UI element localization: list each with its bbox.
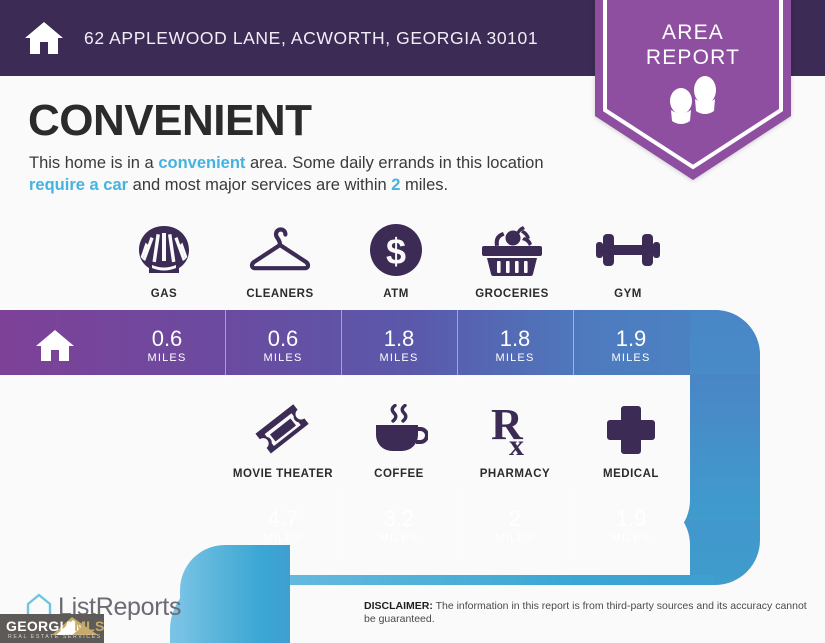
home-icon bbox=[24, 20, 64, 56]
ticket-icon bbox=[255, 402, 311, 458]
badge-text: AREA REPORT bbox=[595, 20, 791, 70]
dumbbell-icon bbox=[596, 222, 660, 278]
icon-label: GYM bbox=[614, 288, 642, 300]
georgia-mls-badge: GEORGIAMLS REAL ESTATE SERVICES bbox=[0, 614, 104, 643]
page-title: CONVENIENT bbox=[28, 96, 311, 146]
icon-cell-medical: MEDICAL bbox=[573, 402, 689, 480]
svg-text:x: x bbox=[509, 429, 524, 457]
icon-cell-cleaners: CLEANERS bbox=[222, 222, 338, 300]
icon-label: ATM bbox=[383, 288, 409, 300]
distance-unit: MILES bbox=[379, 532, 418, 544]
hanger-icon bbox=[249, 222, 311, 278]
shell-icon bbox=[137, 222, 191, 278]
area-report-page: 62 APPLEWOOD LANE, ACWORTH, GEORGIA 3010… bbox=[0, 0, 825, 643]
distance-bar-row-2: 4.7 MILES 3.2 MILES 2 MILES 1.9 MILES bbox=[225, 490, 689, 560]
icon-label: CLEANERS bbox=[246, 288, 313, 300]
distance-value: 1.9 bbox=[616, 507, 647, 530]
mls-tagline: REAL ESTATE SERVICES bbox=[8, 634, 102, 640]
subtitle-part-b: area. Some daily errands in this locatio… bbox=[245, 154, 543, 172]
icon-cell-pharmacy: R x PHARMACY bbox=[457, 402, 573, 480]
distance-unit: MILES bbox=[263, 532, 302, 544]
distance-unit: MILES bbox=[147, 352, 186, 364]
disclaimer-label: DISCLAIMER: bbox=[364, 600, 433, 612]
icon-row-2: MOVIE THEATER COFFEE R x bbox=[225, 402, 689, 480]
distance-cell-atm: 1.8 MILES bbox=[341, 310, 457, 380]
icon-label: PHARMACY bbox=[480, 468, 550, 480]
highlight-require-car: require a car bbox=[29, 176, 128, 194]
distance-unit: MILES bbox=[611, 532, 650, 544]
distance-cell-coffee: 3.2 MILES bbox=[341, 490, 457, 560]
distance-cell-gas: 0.6 MILES bbox=[109, 310, 225, 380]
page-subtitle: This home is in a convenient area. Some … bbox=[29, 152, 589, 196]
icon-cell-atm: $ ATM bbox=[338, 222, 454, 300]
distance-value: 4.7 bbox=[268, 507, 299, 530]
distance-cell-movie-theater: 4.7 MILES bbox=[225, 490, 341, 560]
icon-label: MEDICAL bbox=[603, 468, 659, 480]
icon-cell-gym: GYM bbox=[570, 222, 686, 300]
mls-georgia: GEORGIA bbox=[6, 618, 74, 634]
area-report-badge: AREA REPORT bbox=[595, 0, 791, 180]
icon-label: COFFEE bbox=[374, 468, 424, 480]
distance-value: 0.6 bbox=[152, 327, 183, 350]
icon-label: GAS bbox=[151, 288, 177, 300]
distance-unit: MILES bbox=[263, 352, 302, 364]
distance-unit: MILES bbox=[495, 352, 534, 364]
badge-line-2: REPORT bbox=[595, 45, 791, 70]
mls-wordmark: GEORGIAMLS bbox=[6, 618, 104, 634]
dollar-icon: $ bbox=[369, 222, 423, 278]
subtitle-part-c: and most major services are within bbox=[128, 176, 391, 194]
distance-value: 1.9 bbox=[616, 327, 647, 350]
highlight-convenient: convenient bbox=[158, 154, 245, 172]
basket-icon bbox=[482, 222, 542, 278]
svg-text:$: $ bbox=[386, 231, 406, 272]
distance-value: 3.2 bbox=[384, 507, 415, 530]
icon-cell-gas: GAS bbox=[106, 222, 222, 300]
icon-label: MOVIE THEATER bbox=[233, 468, 333, 480]
distance-value: 1.8 bbox=[500, 327, 531, 350]
subtitle-part-a: This home is in a bbox=[29, 154, 158, 172]
distance-cell-groceries: 1.8 MILES bbox=[457, 310, 573, 380]
cross-icon bbox=[605, 402, 657, 458]
distance-bar-row-1: 0.6 MILES 0.6 MILES 1.8 MILES 1.8 MILES … bbox=[0, 310, 689, 380]
distance-unit: MILES bbox=[611, 352, 650, 364]
distance-cell-medical: 1.9 MILES bbox=[573, 490, 689, 560]
subtitle-part-d: miles. bbox=[400, 176, 448, 194]
icon-cell-coffee: COFFEE bbox=[341, 402, 457, 480]
icon-cell-groceries: GROCERIES bbox=[454, 222, 570, 300]
coffee-icon bbox=[370, 402, 428, 458]
icon-label: GROCERIES bbox=[475, 288, 549, 300]
rx-icon: R x bbox=[489, 402, 541, 458]
icon-cell-movie-theater: MOVIE THEATER bbox=[225, 402, 341, 480]
distance-value: 0.6 bbox=[268, 327, 299, 350]
distance-unit: MILES bbox=[379, 352, 418, 364]
property-address: 62 APPLEWOOD LANE, ACWORTH, GEORGIA 3010… bbox=[84, 28, 538, 49]
distance-value: 1.8 bbox=[384, 327, 415, 350]
distance-unit: MILES bbox=[495, 532, 534, 544]
home-icon bbox=[34, 327, 76, 363]
badge-line-1: AREA bbox=[595, 20, 791, 45]
disclaimer: DISCLAIMER: The information in this repo… bbox=[364, 600, 809, 626]
distance-cell-gym: 1.9 MILES bbox=[573, 310, 689, 380]
distance-cell-pharmacy: 2 MILES bbox=[457, 490, 573, 560]
distance-cell-cleaners: 0.6 MILES bbox=[225, 310, 341, 380]
mls-suffix: MLS bbox=[74, 618, 104, 634]
icon-row-1: GAS CLEANERS $ ATM bbox=[106, 222, 686, 300]
distance-value: 2 bbox=[509, 507, 521, 530]
home-marker-cell bbox=[0, 310, 109, 380]
